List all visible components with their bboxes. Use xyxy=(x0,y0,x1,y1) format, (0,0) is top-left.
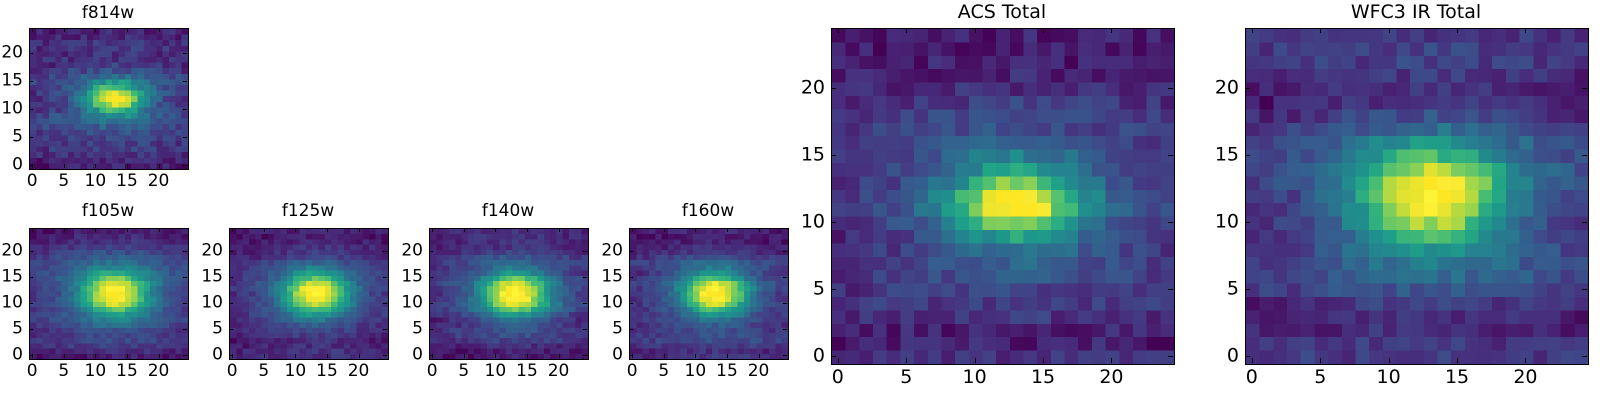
y-ticklabel-wfc3_ir_total: 20 xyxy=(1199,79,1239,98)
x-ticklabel-acs_total: 10 xyxy=(963,368,987,387)
plot-area-f814w[interactable] xyxy=(29,28,189,170)
panel-title-f125w: f125w xyxy=(229,203,387,220)
y-ticklabel-f105w: 0 xyxy=(0,347,23,364)
heatmap-f160w xyxy=(630,229,788,359)
x-ticklabel-acs_total: 20 xyxy=(1099,368,1123,387)
y-ticklabel-acs_total: 10 xyxy=(785,213,825,232)
y-ticklabel-wfc3_ir_total: 5 xyxy=(1199,280,1239,299)
y-ticklabel-wfc3_ir_total: 10 xyxy=(1199,213,1239,232)
heatmap-f814w xyxy=(30,29,188,169)
y-ticklabel-f140w: 15 xyxy=(383,269,423,286)
heatmap-wfc3_ir_total xyxy=(1246,29,1588,364)
x-ticklabel-f814w: 20 xyxy=(148,173,170,190)
y-ticklabel-f140w: 10 xyxy=(383,295,423,312)
plot-area-wfc3_ir_total[interactable] xyxy=(1245,28,1589,365)
panel-title-acs_total: ACS Total xyxy=(831,3,1173,22)
y-ticklabel-f125w: 10 xyxy=(183,295,223,312)
panel-title-f160w: f160w xyxy=(629,203,787,220)
x-ticklabel-f160w: 15 xyxy=(716,363,738,380)
x-ticklabel-f160w: 0 xyxy=(627,363,638,380)
x-ticklabel-wfc3_ir_total: 5 xyxy=(1314,368,1326,387)
x-ticklabel-f814w: 5 xyxy=(58,173,69,190)
plot-area-f140w[interactable] xyxy=(429,228,589,360)
y-ticklabel-acs_total: 20 xyxy=(785,79,825,98)
x-ticklabel-f125w: 10 xyxy=(285,363,307,380)
y-ticklabel-f814w: 0 xyxy=(0,157,23,174)
y-ticklabel-f160w: 5 xyxy=(583,321,623,338)
x-ticklabel-f814w: 10 xyxy=(85,173,107,190)
x-ticklabel-f125w: 0 xyxy=(227,363,238,380)
heatmap-f140w xyxy=(430,229,588,359)
y-ticklabel-f125w: 15 xyxy=(183,269,223,286)
figure-canvas: f814w0510152005101520f105w05101520051015… xyxy=(0,0,1600,400)
panel-title-wfc3_ir_total: WFC3 IR Total xyxy=(1245,3,1587,22)
plot-area-acs_total[interactable] xyxy=(831,28,1175,365)
y-ticklabel-acs_total: 15 xyxy=(785,146,825,165)
x-ticklabel-acs_total: 15 xyxy=(1031,368,1055,387)
y-ticklabel-f814w: 10 xyxy=(0,101,23,118)
heatmap-f125w xyxy=(230,229,388,359)
x-ticklabel-f160w: 10 xyxy=(685,363,707,380)
x-ticklabel-f140w: 20 xyxy=(548,363,570,380)
y-ticklabel-f125w: 20 xyxy=(183,243,223,260)
plot-area-f160w[interactable] xyxy=(629,228,789,360)
y-ticklabel-f105w: 20 xyxy=(0,243,23,260)
x-ticklabel-f105w: 0 xyxy=(27,363,38,380)
y-ticklabel-f125w: 5 xyxy=(183,321,223,338)
y-ticklabel-f105w: 15 xyxy=(0,269,23,286)
y-ticklabel-f105w: 10 xyxy=(0,295,23,312)
y-ticklabel-f140w: 5 xyxy=(383,321,423,338)
x-ticklabel-f125w: 15 xyxy=(316,363,338,380)
y-ticklabel-f814w: 5 xyxy=(0,129,23,146)
y-ticklabel-f814w: 20 xyxy=(0,45,23,62)
x-ticklabel-f125w: 5 xyxy=(258,363,269,380)
x-ticklabel-f105w: 5 xyxy=(58,363,69,380)
y-ticklabel-wfc3_ir_total: 0 xyxy=(1199,347,1239,366)
y-ticklabel-f105w: 5 xyxy=(0,321,23,338)
x-ticklabel-f105w: 20 xyxy=(148,363,170,380)
y-ticklabel-acs_total: 0 xyxy=(785,347,825,366)
heatmap-acs_total xyxy=(832,29,1174,364)
x-ticklabel-acs_total: 0 xyxy=(832,368,844,387)
x-ticklabel-f814w: 15 xyxy=(116,173,138,190)
y-ticklabel-acs_total: 5 xyxy=(785,280,825,299)
x-ticklabel-f140w: 0 xyxy=(427,363,438,380)
x-ticklabel-f105w: 10 xyxy=(85,363,107,380)
x-ticklabel-f105w: 15 xyxy=(116,363,138,380)
y-ticklabel-f160w: 15 xyxy=(583,269,623,286)
y-ticklabel-f160w: 20 xyxy=(583,243,623,260)
heatmap-f105w xyxy=(30,229,188,359)
x-ticklabel-wfc3_ir_total: 10 xyxy=(1377,368,1401,387)
x-ticklabel-f140w: 10 xyxy=(485,363,507,380)
x-ticklabel-f140w: 5 xyxy=(458,363,469,380)
y-ticklabel-f160w: 10 xyxy=(583,295,623,312)
x-ticklabel-f140w: 15 xyxy=(516,363,538,380)
y-ticklabel-f160w: 0 xyxy=(583,347,623,364)
plot-area-f125w[interactable] xyxy=(229,228,389,360)
x-ticklabel-f160w: 20 xyxy=(748,363,770,380)
y-ticklabel-wfc3_ir_total: 15 xyxy=(1199,146,1239,165)
x-ticklabel-acs_total: 5 xyxy=(900,368,912,387)
x-ticklabel-wfc3_ir_total: 20 xyxy=(1513,368,1537,387)
x-ticklabel-f160w: 5 xyxy=(658,363,669,380)
plot-area-f105w[interactable] xyxy=(29,228,189,360)
y-ticklabel-f140w: 20 xyxy=(383,243,423,260)
panel-title-f814w: f814w xyxy=(29,5,187,22)
x-ticklabel-wfc3_ir_total: 0 xyxy=(1246,368,1258,387)
x-ticklabel-f125w: 20 xyxy=(348,363,370,380)
y-ticklabel-f814w: 15 xyxy=(0,73,23,90)
y-ticklabel-f125w: 0 xyxy=(183,347,223,364)
y-ticklabel-f140w: 0 xyxy=(383,347,423,364)
x-ticklabel-wfc3_ir_total: 15 xyxy=(1445,368,1469,387)
x-ticklabel-f814w: 0 xyxy=(27,173,38,190)
panel-title-f140w: f140w xyxy=(429,203,587,220)
panel-title-f105w: f105w xyxy=(29,203,187,220)
